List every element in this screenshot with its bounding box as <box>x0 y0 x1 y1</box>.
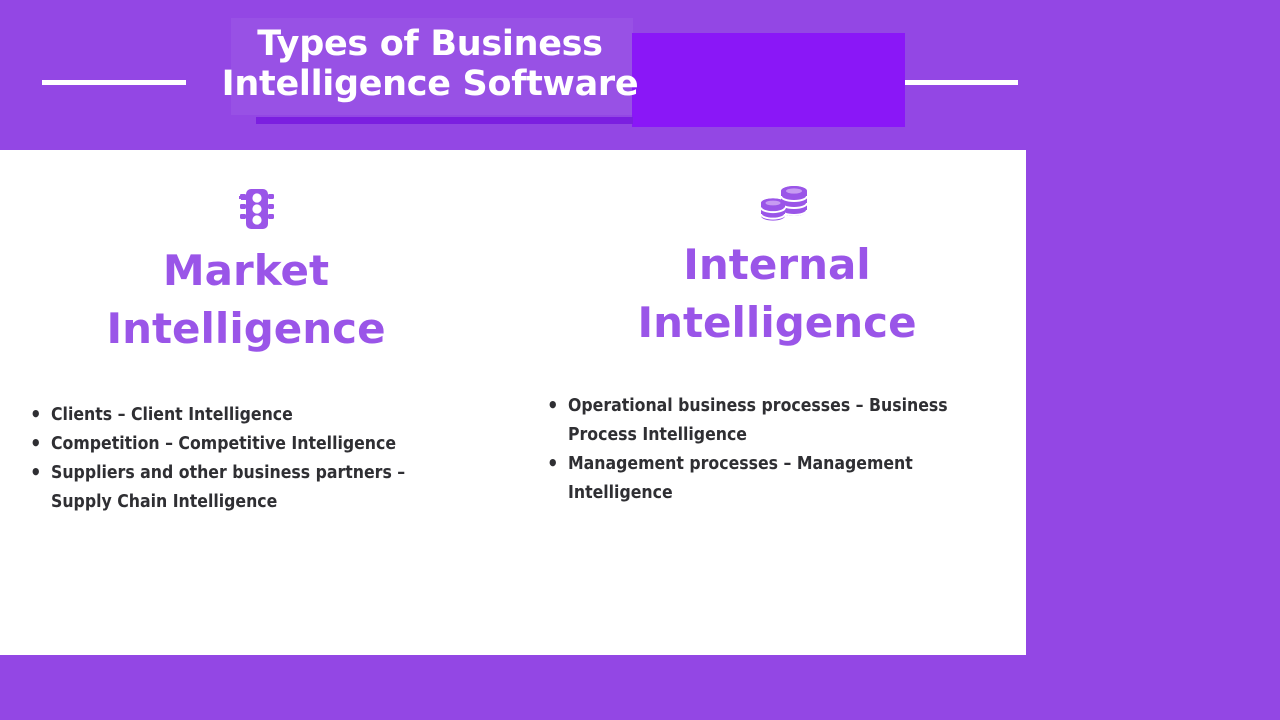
column-internal-intelligence: Internal Intelligence Operational busine… <box>520 150 1020 508</box>
list-item: Management processes – Management Intell… <box>547 450 987 508</box>
header-rule-right <box>905 80 1018 85</box>
coin-stacks-icon-wrap <box>520 150 1034 234</box>
list-item: Competition – Competitive Intelligence <box>30 430 450 459</box>
slide-root: Types of Business Intelligence Software <box>0 0 1280 720</box>
coin-stacks-icon <box>760 182 808 224</box>
slide-header: Types of Business Intelligence Software <box>0 0 1280 150</box>
traffic-light-icon <box>239 187 275 231</box>
internal-bullet-list: Operational business processes – Busines… <box>547 392 987 508</box>
list-item: Suppliers and other business partners – … <box>30 459 450 517</box>
page-title: Types of Business Intelligence Software <box>150 24 710 104</box>
title-underline-bar <box>256 117 633 124</box>
list-item: Clients – Client Intelligence <box>30 401 450 430</box>
content-card: Market Intelligence Clients – Client Int… <box>0 150 1026 655</box>
column-market-intelligence: Market Intelligence Clients – Client Int… <box>0 150 470 517</box>
column-heading-internal: Internal Intelligence <box>520 236 1020 352</box>
list-item: Operational business processes – Busines… <box>547 392 987 450</box>
column-heading-market: Market Intelligence <box>0 242 470 358</box>
market-bullet-list: Clients – Client Intelligence Competitio… <box>30 401 450 517</box>
traffic-light-icon-wrap <box>0 150 492 240</box>
